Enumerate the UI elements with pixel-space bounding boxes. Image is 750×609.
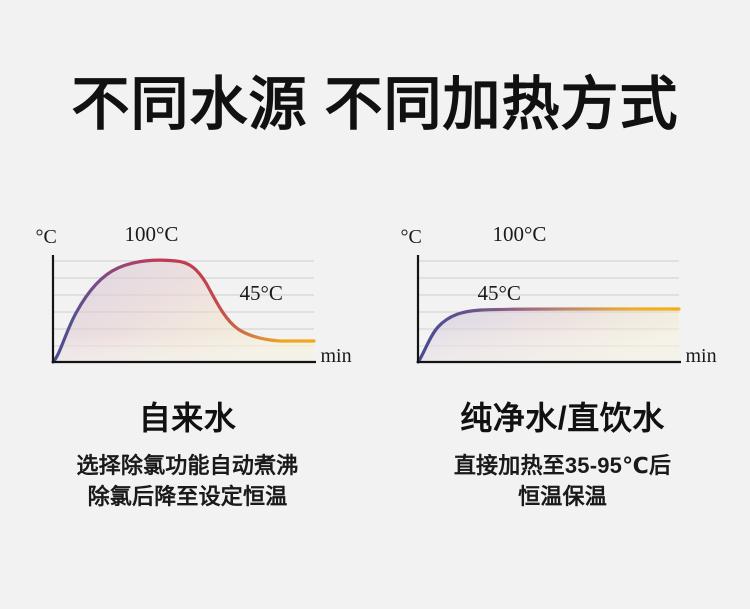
hold-temperature-label: 45°C	[240, 283, 283, 304]
chart-purified-water-svg	[393, 215, 733, 380]
peak-temperature-label: 100°C	[493, 224, 547, 245]
caption-title: 纯净水/直饮水	[375, 398, 750, 438]
caption-description-line-1: 选择除氯功能自动煮沸	[0, 450, 375, 481]
chart-tap-water: °C min 100°C 45°C	[18, 215, 358, 380]
caption-purified-water: 纯净水/直饮水 直接加热至35-95℃后 恒温保温	[375, 398, 750, 512]
caption-description: 直接加热至35-95℃后 恒温保温	[375, 450, 750, 512]
caption-description-line-1: 直接加热至35-95℃后	[375, 450, 750, 481]
caption-description-line-2: 恒温保温	[375, 481, 750, 512]
chart-purified-water: °C min 100°C 45°C	[393, 215, 733, 380]
caption-description: 选择除氯功能自动煮沸 除氯后降至设定恒温	[0, 450, 375, 512]
page-title: 不同水源 不同加热方式	[0, 72, 750, 138]
y-axis-unit-label: °C	[36, 227, 57, 247]
chart-tap-water-svg	[18, 215, 358, 380]
page-root: 不同水源 不同加热方式	[0, 0, 750, 609]
y-axis-unit-label: °C	[401, 227, 422, 247]
hold-temperature-label: 45°C	[478, 283, 521, 304]
charts-row: °C min 100°C 45°C	[0, 215, 750, 380]
x-axis-unit-label: min	[686, 346, 717, 366]
caption-description-line-2: 除氯后降至设定恒温	[0, 481, 375, 512]
peak-temperature-label: 100°C	[125, 224, 179, 245]
panel-tap-water: °C min 100°C 45°C	[0, 215, 375, 380]
caption-title: 自来水	[0, 398, 375, 438]
x-axis-unit-label: min	[321, 346, 352, 366]
panel-purified-water: °C min 100°C 45°C	[375, 215, 750, 380]
caption-tap-water: 自来水 选择除氯功能自动煮沸 除氯后降至设定恒温	[0, 398, 375, 512]
